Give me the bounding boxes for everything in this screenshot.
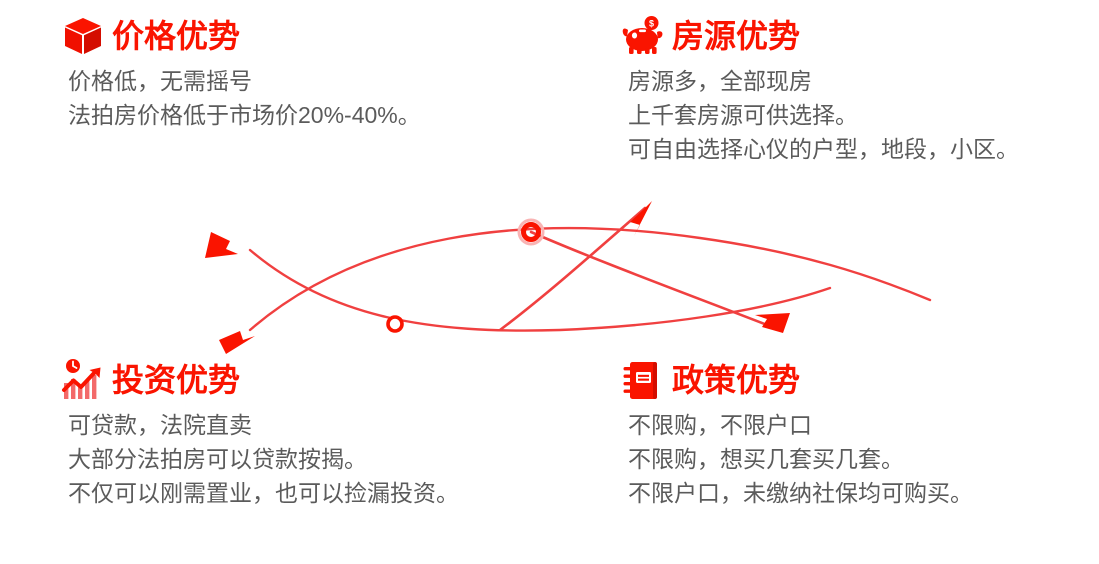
cube-icon (60, 13, 106, 59)
curve-lower-arc (250, 250, 830, 331)
node-marker-small (388, 317, 402, 331)
arrow-down-right-icon (755, 313, 790, 333)
feature-lines-listing: 房源多，全部现房 上千套房源可供选择。 可自由选择心仪的户型，地段，小区。 (628, 64, 1019, 166)
node-marker-large-halo (519, 220, 543, 244)
notebook-icon (620, 357, 666, 403)
feature-title-listing: 房源优势 (672, 20, 800, 52)
arrow-down-left-icon (219, 331, 255, 354)
feature-line: 上千套房源可供选择。 (628, 98, 1019, 132)
feature-line: 不仅可以刚需置业，也可以捡漏投资。 (68, 476, 459, 510)
feature-lines-policy: 不限购，不限户口 不限购，想买几套买几套。 不限户口，未缴纳社保均可购买。 (628, 408, 973, 510)
svg-text:$: $ (649, 19, 654, 29)
feature-block-invest: 投资优势 可贷款，法院直卖 大部分法拍房可以贷款按揭。 不仅可以刚需置业，也可以… (60, 356, 459, 510)
feature-line: 不限购，想买几套买几套。 (628, 442, 973, 476)
curve-descend-right (531, 232, 775, 328)
feature-title-price: 价格优势 (112, 20, 240, 52)
arrow-up-left-icon (205, 232, 238, 258)
feature-line: 价格低，无需摇号 (68, 64, 421, 98)
feature-header-invest: 投资优势 (60, 356, 459, 404)
feature-block-price: 价格优势 价格低，无需摇号 法拍房价格低于市场价20%-40%。 (60, 12, 421, 132)
arrow-up-right-icon (630, 201, 652, 236)
feature-lines-price: 价格低，无需摇号 法拍房价格低于市场价20%-40%。 (68, 64, 421, 132)
growth-chart-icon (60, 357, 106, 403)
feature-header-policy: 政策优势 (620, 356, 973, 404)
feature-header-price: 价格优势 (60, 12, 421, 60)
feature-line: 不限购，不限户口 (628, 408, 973, 442)
feature-title-invest: 投资优势 (112, 364, 240, 396)
feature-line: 可自由选择心仪的户型，地段，小区。 (628, 132, 1019, 166)
feature-line: 房源多，全部现房 (628, 64, 1019, 98)
curve-upper-arc (250, 228, 930, 330)
feature-title-policy: 政策优势 (672, 364, 800, 396)
piggy-bank-icon: $ (620, 13, 666, 59)
feature-block-listing: $ 房源优势 房源多，全部现房 上千套房源可供选择。 可自由选择心仪的户型，地段… (620, 12, 1019, 166)
feature-line: 法拍房价格低于市场价20%-40%。 (68, 98, 421, 132)
feature-line: 不限户口，未缴纳社保均可购买。 (628, 476, 973, 510)
curve-rising-right (500, 208, 645, 330)
infographic-page: 价格优势 价格低，无需摇号 法拍房价格低于市场价20%-40%。 $ 房源优势 (0, 0, 1099, 564)
node-marker-large (524, 225, 539, 240)
feature-line: 大部分法拍房可以贷款按揭。 (68, 442, 459, 476)
feature-header-listing: $ 房源优势 (620, 12, 1019, 60)
feature-block-policy: 政策优势 不限购，不限户口 不限购，想买几套买几套。 不限户口，未缴纳社保均可购… (620, 356, 973, 510)
feature-lines-invest: 可贷款，法院直卖 大部分法拍房可以贷款按揭。 不仅可以刚需置业，也可以捡漏投资。 (68, 408, 459, 510)
feature-line: 可贷款，法院直卖 (68, 408, 459, 442)
